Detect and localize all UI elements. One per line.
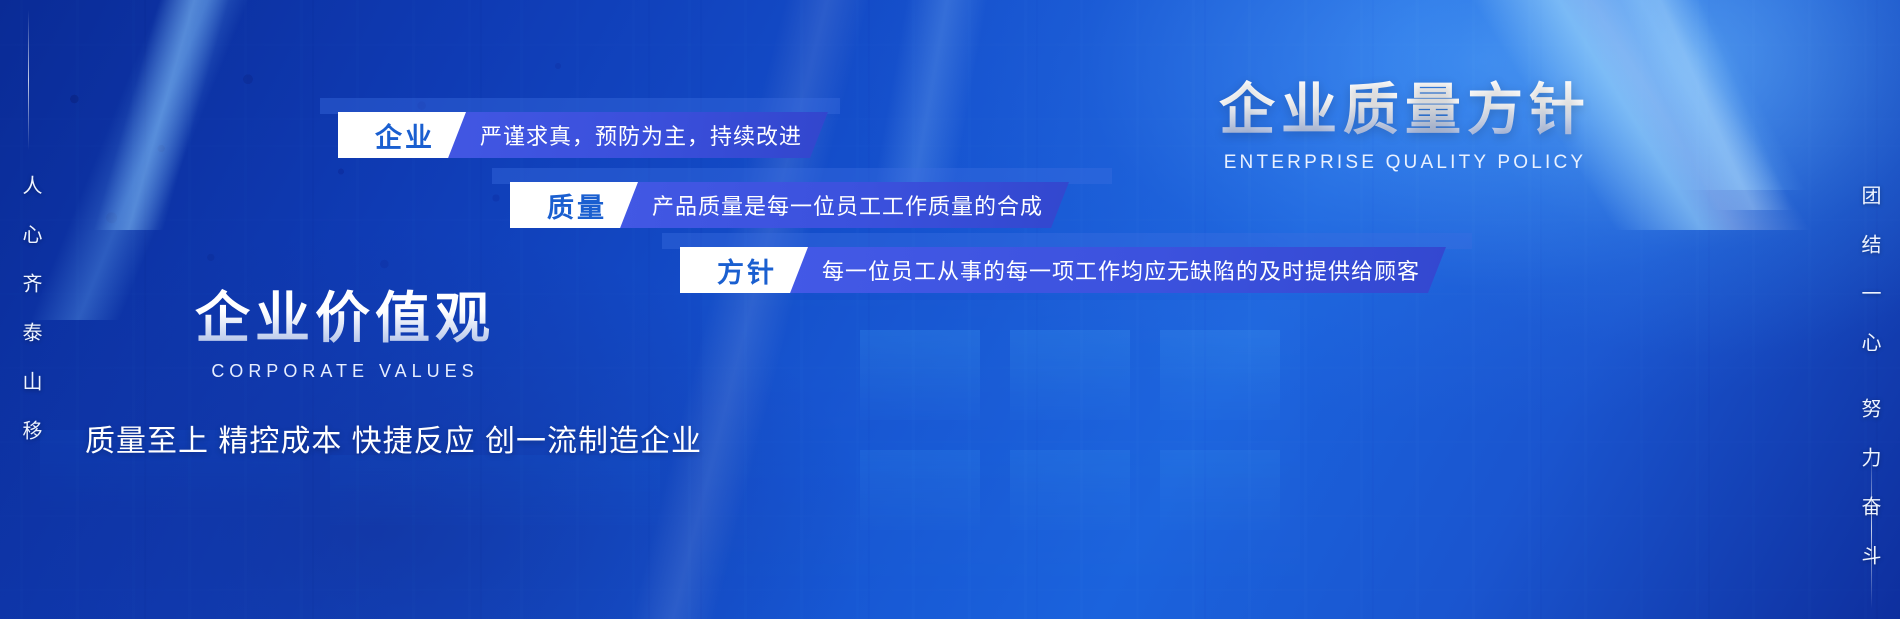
- corporate-values-tagline: 质量至上 精控成本 快捷反应 创一流制造企业: [85, 416, 605, 460]
- policy-ribbon-quality: 质量 产品质量是每一位员工工作质量的合成: [510, 182, 1069, 228]
- crowd-photo-texture: [0, 0, 620, 330]
- ribbon-shadow-plate: [320, 98, 840, 114]
- window-shape: [860, 330, 980, 420]
- quality-policy-subtitle: ENTERPRISE QUALITY POLICY: [1055, 152, 1755, 174]
- window-shape: [1160, 450, 1280, 530]
- ribbon-tag-label: 质量: [510, 182, 638, 228]
- right-vertical-caption: 团 结 一 心 努 力 奋 斗: [1855, 185, 1884, 577]
- policy-ribbon-guideline: 方针 每一位员工从事的每一项工作均应无缺陷的及时提供给顾客: [680, 247, 1446, 293]
- left-divider-line: [28, 10, 29, 150]
- corporate-culture-banner: 人 心 齐 泰 山 移 团 结 一 心 努 力 奋 斗 企业质量方针 ENTER…: [0, 0, 1900, 619]
- ribbon-tag-text: 企业: [375, 116, 435, 155]
- ribbon-body-text: 每一位员工从事的每一项工作均应无缺陷的及时提供给顾客: [822, 254, 1420, 286]
- ribbon-tag-text: 方针: [717, 251, 777, 290]
- corporate-values-title: 企业价值观: [85, 285, 605, 351]
- window-shape: [1010, 330, 1130, 420]
- ribbon-tag-label: 方针: [680, 247, 808, 293]
- ribbon-body-text: 产品质量是每一位员工工作质量的合成: [652, 189, 1043, 221]
- quality-policy-heading-block: 企业质量方针 ENTERPRISE QUALITY POLICY: [1055, 78, 1755, 174]
- policy-ribbon-enterprise: 企业 严谨求真，预防为主，持续改进: [338, 112, 828, 158]
- left-vertical-caption: 人 心 齐 泰 山 移: [16, 175, 45, 452]
- ribbon-body: 严谨求真，预防为主，持续改进: [444, 112, 828, 158]
- quality-policy-title: 企业质量方针: [1055, 78, 1755, 142]
- window-shape: [860, 450, 980, 530]
- corporate-values-subtitle: CORPORATE VALUES: [85, 361, 605, 382]
- ribbon-body: 产品质量是每一位员工工作质量的合成: [616, 182, 1069, 228]
- ribbon-body-text: 严谨求真，预防为主，持续改进: [480, 119, 802, 151]
- right-divider-line: [1871, 449, 1872, 609]
- ribbon-shadow-plate: [492, 168, 1112, 184]
- window-shape: [1160, 330, 1280, 420]
- corporate-values-heading-block: 企业价值观 CORPORATE VALUES 质量至上 精控成本 快捷反应 创一…: [85, 285, 605, 460]
- window-shape: [330, 455, 660, 525]
- ribbon-shadow-plate: [662, 233, 1472, 249]
- ribbon-tag-label: 企业: [338, 112, 466, 158]
- corner-glow: [1320, 0, 1900, 360]
- ribbon-tag-text: 质量: [547, 186, 607, 225]
- ribbon-body: 每一位员工从事的每一项工作均应无缺陷的及时提供给顾客: [786, 247, 1446, 293]
- window-shape: [1010, 450, 1130, 530]
